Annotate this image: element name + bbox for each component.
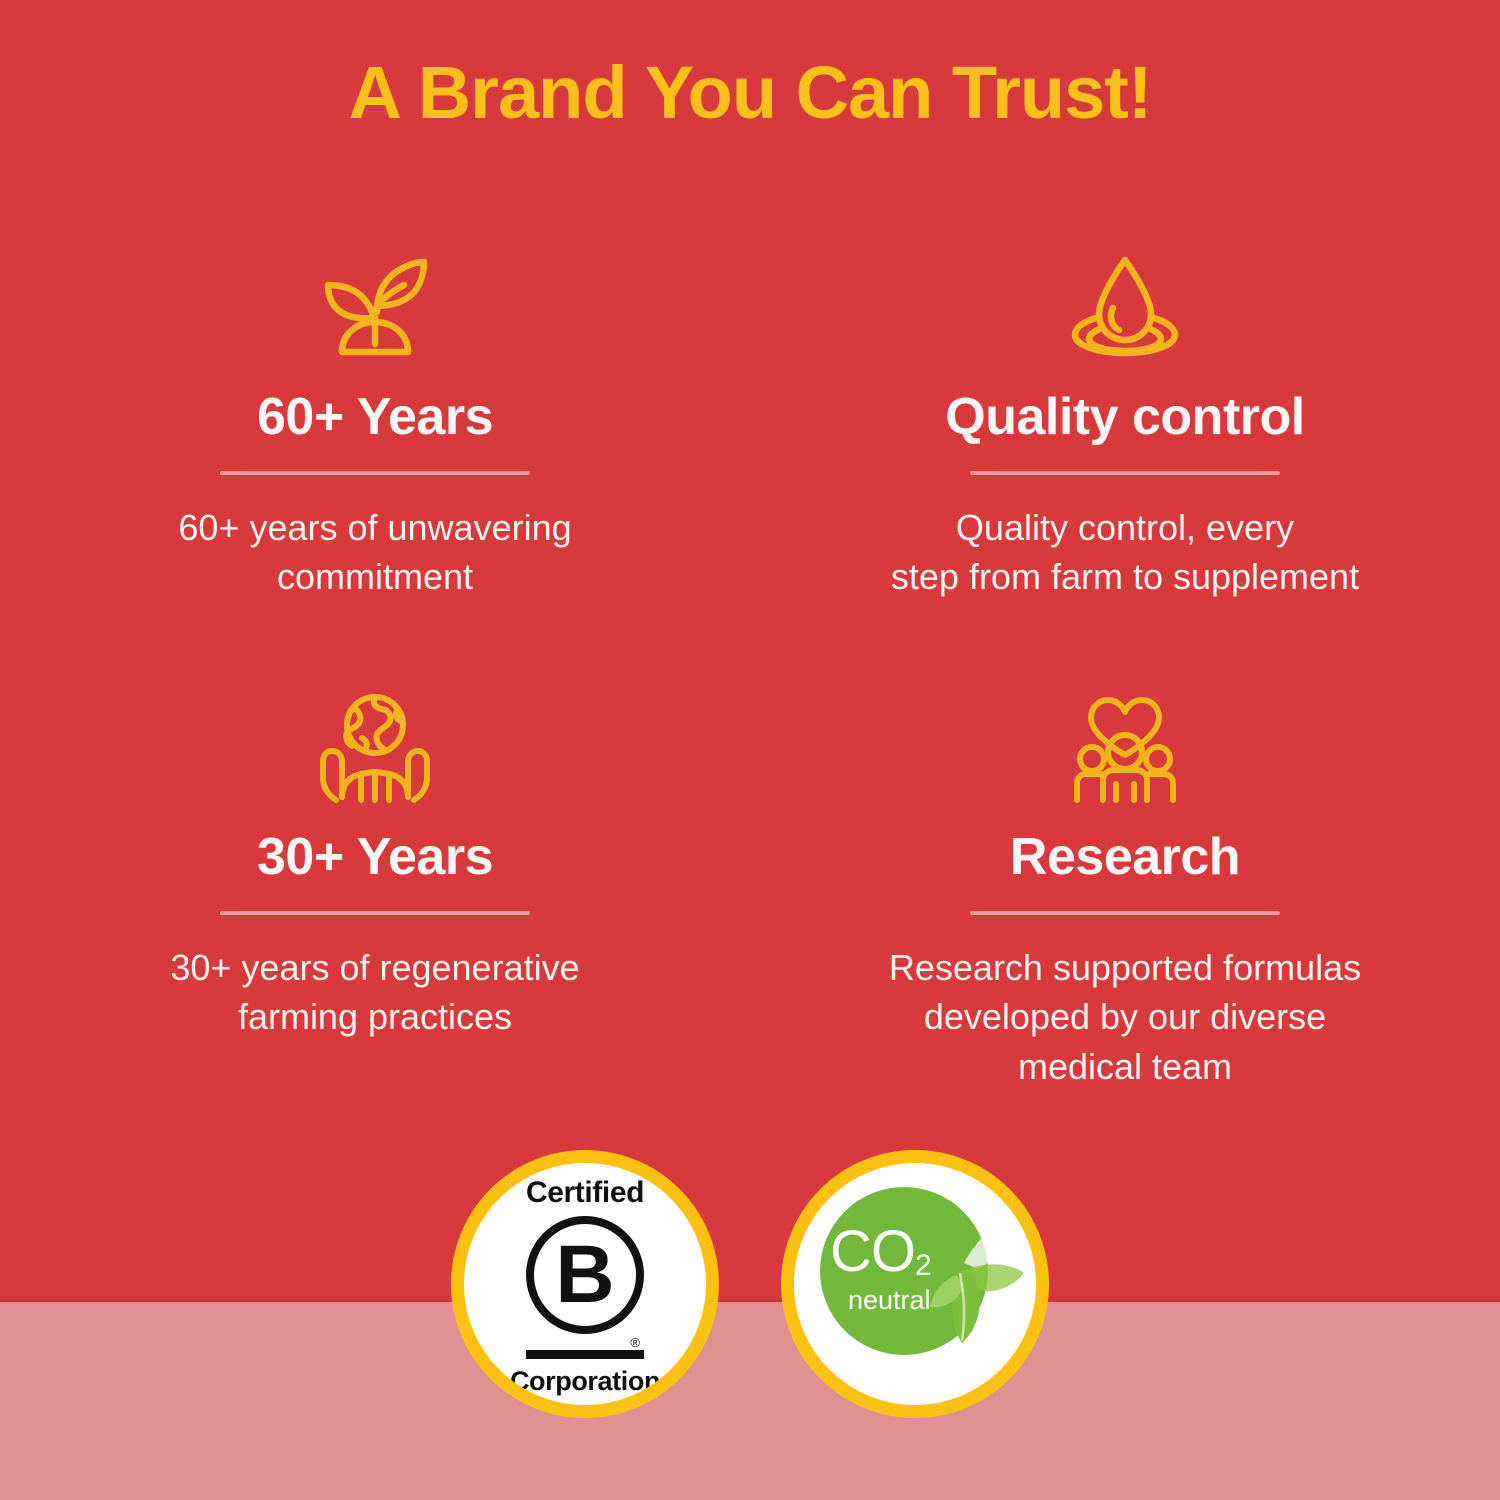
- feature-body-line: farming practices: [170, 992, 579, 1042]
- feature-body-line: developed by our diverse: [889, 992, 1361, 1042]
- feature-body-line: medical team: [889, 1042, 1361, 1092]
- page-title: A Brand You Can Trust!: [0, 52, 1500, 133]
- feature-heading: Research: [1010, 830, 1240, 885]
- feature-body: 60+ years of unwavering commitment: [178, 503, 571, 602]
- feature-heading: 30+ Years: [257, 830, 493, 885]
- registered-trademark-icon: ®: [630, 1336, 640, 1349]
- feature-heading: 60+ Years: [257, 390, 493, 445]
- bcorp-bottom-label: Corporation: [510, 1368, 660, 1395]
- family-heart-icon: [1061, 688, 1189, 804]
- globe-in-hands-icon: [314, 688, 436, 804]
- co2-label-group: CO2 neutral: [830, 1223, 980, 1314]
- b-corp-certified-badge: Certified B ® Corporation: [451, 1150, 719, 1418]
- co2-subscript: 2: [915, 1249, 932, 1282]
- feature-body-line: step from farm to supplement: [891, 552, 1359, 602]
- sprout-icon: [316, 248, 434, 364]
- feature-divider: [970, 471, 1280, 475]
- bcorp-b-mark: B: [526, 1216, 644, 1334]
- certification-badges: Certified B ® Corporation: [0, 1150, 1500, 1418]
- feature-body-line: 60+ years of unwavering: [178, 503, 571, 553]
- co2-main-label: CO: [830, 1219, 915, 1284]
- bcorp-top-label: Certified: [526, 1178, 644, 1208]
- brand-trust-poster: A Brand You Can Trust! 60+ Years 60+ yea…: [0, 0, 1500, 1500]
- feature-cell-years-30: 30+ Years 30+ years of regenerative farm…: [0, 678, 750, 1118]
- feature-body-line: commitment: [178, 552, 571, 602]
- water-drop-icon: [1059, 248, 1191, 364]
- feature-grid: 60+ Years 60+ years of unwavering commit…: [0, 238, 1500, 1118]
- feature-divider: [220, 911, 530, 915]
- bcorp-rule: [526, 1350, 644, 1359]
- feature-body-line: 30+ years of regenerative: [170, 943, 579, 993]
- feature-heading: Quality control: [945, 390, 1304, 445]
- feature-cell-research: Research Research supported formulas dev…: [750, 678, 1500, 1118]
- co2-neutral-label: neutral: [848, 1287, 980, 1314]
- feature-divider: [220, 471, 530, 475]
- feature-cell-quality-control: Quality control Quality control, every s…: [750, 238, 1500, 678]
- feature-body-line: Quality control, every: [891, 503, 1359, 553]
- feature-body-line: Research supported formulas: [889, 943, 1361, 993]
- co2-neutral-badge: CO2 neutral: [781, 1150, 1049, 1418]
- feature-body: Research supported formulas developed by…: [889, 943, 1361, 1092]
- feature-body: Quality control, every step from farm to…: [891, 503, 1359, 602]
- feature-body: 30+ years of regenerative farming practi…: [170, 943, 579, 1042]
- feature-divider: [970, 911, 1280, 915]
- bcorp-letter: B: [526, 1216, 644, 1334]
- feature-cell-years-60: 60+ Years 60+ years of unwavering commit…: [0, 238, 750, 678]
